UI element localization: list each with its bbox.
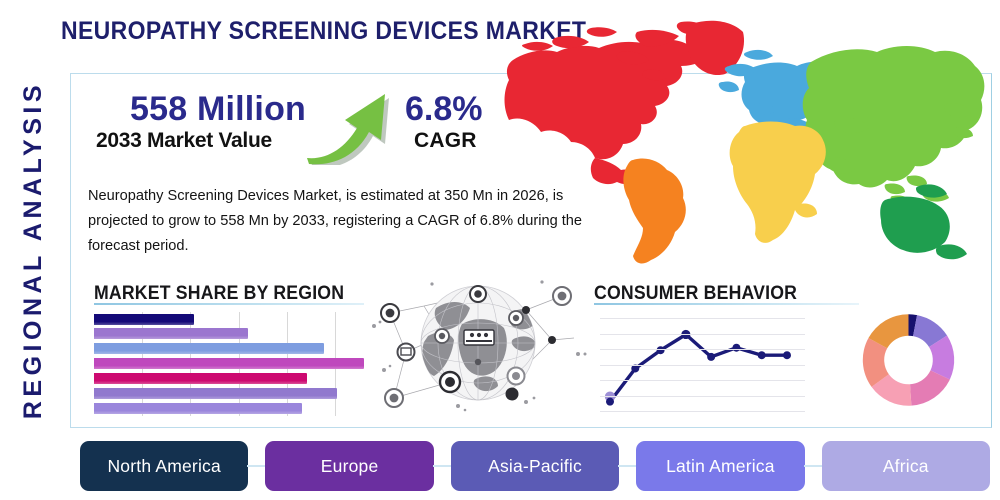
bar-chart-bar bbox=[94, 403, 302, 414]
bar-chart-bar bbox=[94, 373, 307, 384]
market-value-label: 2033 Market Value bbox=[96, 129, 272, 153]
region-tab-north-america[interactable]: North America bbox=[80, 441, 248, 491]
region-tab-label: Africa bbox=[883, 456, 929, 477]
bar-chart-bars bbox=[94, 312, 364, 416]
market-value-number: 558 Million bbox=[130, 90, 306, 129]
bar-chart-row bbox=[94, 403, 364, 414]
bar-chart-row bbox=[94, 388, 364, 399]
region-tab-africa[interactable]: Africa bbox=[822, 441, 990, 491]
infographic-root: REGIONAL ANALYSIS NEUROPATHY SCREENING D… bbox=[0, 0, 1000, 500]
bar-chart-row bbox=[94, 328, 364, 339]
region-tab-label: Asia-Pacific bbox=[488, 456, 582, 477]
region-tab-label: Europe bbox=[321, 456, 379, 477]
market-share-heading-rule bbox=[94, 303, 364, 305]
region-tab-europe[interactable]: Europe bbox=[265, 441, 433, 491]
consumer-behavior-heading: CONSUMER BEHAVIOR bbox=[594, 283, 797, 305]
consumer-behavior-heading-rule bbox=[594, 303, 859, 305]
global-network-icon bbox=[366, 266, 591, 421]
bar-chart-bar bbox=[94, 328, 248, 339]
region-tabs: North AmericaEuropeAsia-PacificLatin Ame… bbox=[80, 441, 990, 491]
market-share-bar-chart bbox=[94, 312, 364, 416]
segment-donut-chart bbox=[856, 306, 961, 414]
market-share-heading: MARKET SHARE BY REGION bbox=[94, 283, 344, 305]
bar-chart-bar bbox=[94, 343, 324, 354]
world-map-icon bbox=[495, 8, 995, 270]
tab-connector bbox=[804, 465, 823, 467]
consumer-behavior-line-chart bbox=[600, 312, 805, 417]
bar-chart-row bbox=[94, 358, 364, 369]
side-label: REGIONAL ANALYSIS bbox=[10, 45, 56, 455]
growth-arrow-up-icon bbox=[301, 80, 401, 165]
bar-chart-bar bbox=[94, 314, 194, 325]
tab-connector bbox=[433, 465, 452, 467]
region-tab-asia-pacific[interactable]: Asia-Pacific bbox=[451, 441, 619, 491]
region-tab-latin-america[interactable]: Latin America bbox=[636, 441, 804, 491]
bar-chart-row bbox=[94, 314, 364, 325]
tab-connector bbox=[618, 465, 637, 467]
cagr-number: 6.8% bbox=[405, 90, 483, 129]
bar-chart-row bbox=[94, 373, 364, 384]
bar-chart-bar bbox=[94, 388, 337, 399]
region-tab-label: North America bbox=[107, 456, 220, 477]
cagr-label: CAGR bbox=[414, 129, 477, 153]
side-label-text: REGIONAL ANALYSIS bbox=[19, 81, 48, 419]
tab-connector bbox=[247, 465, 266, 467]
bar-chart-row bbox=[94, 343, 364, 354]
bar-chart-bar bbox=[94, 358, 364, 369]
region-tab-label: Latin America bbox=[666, 456, 775, 477]
line-chart-gridlines bbox=[600, 312, 805, 417]
kpi-row: 558 Million 2033 Market Value 6.8% CAGR bbox=[96, 92, 516, 162]
